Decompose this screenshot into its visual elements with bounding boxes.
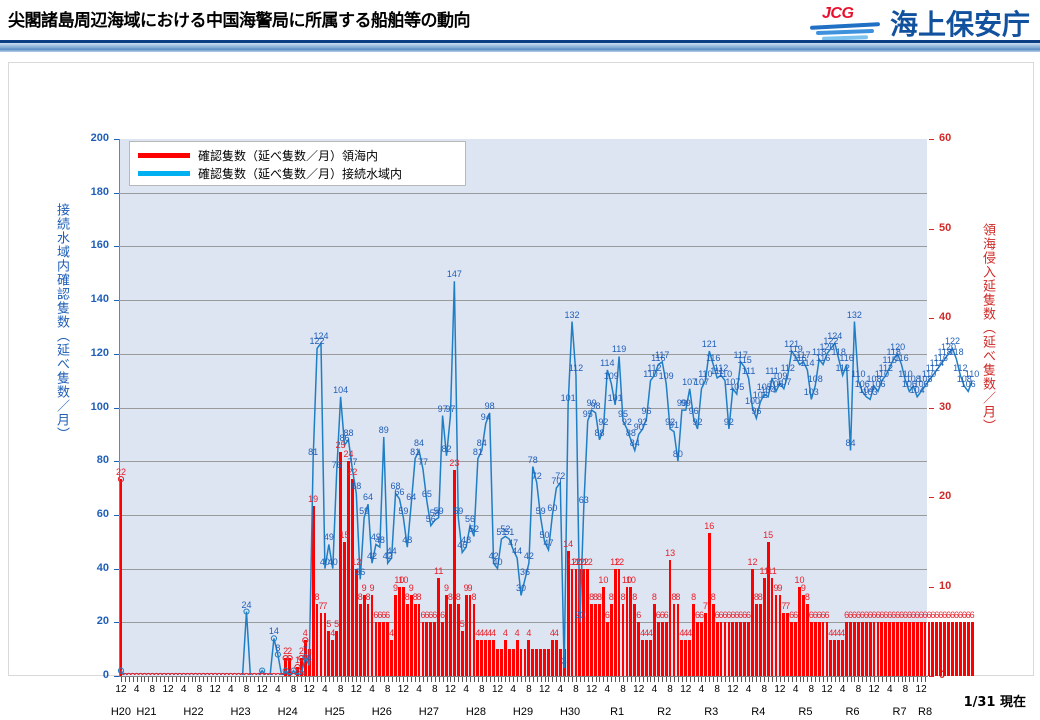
data-label-territorial: 12 <box>747 557 757 567</box>
bar-territorial-sea <box>296 667 299 676</box>
data-label-contiguous: 42 <box>524 551 534 561</box>
data-label-territorial: 6 <box>970 610 975 620</box>
x-tick-mark <box>756 677 757 682</box>
x-axis-month-label: 12 <box>772 684 788 695</box>
bar-territorial-sea <box>375 622 378 676</box>
x-tick-mark <box>501 677 502 682</box>
x-tick-mark <box>878 677 879 682</box>
x-axis-year-label: H26 <box>365 706 399 718</box>
x-axis-month-label: 8 <box>803 684 819 695</box>
x-tick-mark <box>564 677 565 682</box>
data-label-contiguous: 132 <box>565 310 580 320</box>
data-label-territorial: 6 <box>432 610 437 620</box>
bar-territorial-sea <box>959 622 962 676</box>
data-label-contiguous: 59 <box>453 506 463 516</box>
x-tick-mark <box>356 677 357 682</box>
x-tick-mark <box>678 677 679 682</box>
data-label-contiguous: 59 <box>359 506 369 516</box>
data-label-contiguous: 112 <box>781 363 795 373</box>
x-tick-mark <box>305 677 306 682</box>
x-tick-mark <box>556 677 557 682</box>
x-axis-month-label: 4 <box>176 684 192 695</box>
bar-territorial-sea <box>943 622 946 676</box>
bar-territorial-sea <box>735 622 738 676</box>
x-tick-mark <box>694 677 695 682</box>
y-axis-right-tick: 50 <box>939 222 969 234</box>
bar-territorial-sea <box>853 622 856 676</box>
x-tick-mark <box>144 677 145 682</box>
bar-territorial-sea <box>924 622 927 676</box>
bar-territorial-sea <box>433 622 436 676</box>
bar-territorial-sea <box>720 622 723 676</box>
data-label-territorial: 6 <box>793 610 798 620</box>
data-label-territorial: 5 <box>460 619 465 629</box>
data-label-territorial: 6 <box>699 610 704 620</box>
bar-territorial-sea <box>335 631 338 676</box>
x-tick-mark <box>866 677 867 682</box>
x-tick-mark <box>505 677 506 682</box>
bar-territorial-sea <box>822 622 825 676</box>
x-axis-month-label: 12 <box>725 684 741 695</box>
x-tick-mark <box>588 677 589 682</box>
x-axis-month-label: 4 <box>599 684 615 695</box>
data-label-contiguous: 59 <box>536 506 546 516</box>
data-label-contiguous: 80 <box>673 449 683 459</box>
jcg-wave-icon: JCG <box>806 4 884 42</box>
x-tick-mark <box>352 677 353 682</box>
bar-territorial-sea <box>288 658 291 676</box>
bar-territorial-sea <box>680 640 683 676</box>
bar-territorial-sea <box>606 622 609 676</box>
data-label-contiguous: 40 <box>328 557 338 567</box>
x-tick-mark <box>509 677 510 682</box>
bar-territorial-sea <box>708 533 711 676</box>
data-label-contiguous: 115 <box>737 355 751 365</box>
bar-territorial-sea <box>684 640 687 676</box>
x-tick-mark <box>760 677 761 682</box>
x-tick-mark <box>286 677 287 682</box>
x-tick-mark <box>823 677 824 682</box>
y-tick-mark-right <box>929 676 934 677</box>
bar-territorial-sea <box>849 622 852 676</box>
data-label-territorial: 8 <box>758 592 763 602</box>
x-axis-month-label: 4 <box>270 684 286 695</box>
data-label-contiguous: 106 <box>870 379 885 389</box>
x-tick-mark <box>592 677 593 682</box>
data-label-contiguous: 51 <box>504 527 514 537</box>
bar-territorial-sea <box>449 604 452 676</box>
bar-territorial-sea <box>939 622 942 676</box>
bar-territorial-sea <box>665 622 668 676</box>
bar-territorial-sea <box>661 622 664 676</box>
bar-territorial-sea <box>884 622 887 676</box>
data-label-territorial: 9 <box>393 583 398 593</box>
x-tick-mark <box>227 677 228 682</box>
x-tick-mark <box>403 677 404 682</box>
x-axis-month-label: 12 <box>348 684 364 695</box>
bar-territorial-sea <box>316 604 319 676</box>
x-tick-mark <box>121 677 122 682</box>
data-label-territorial: 6 <box>605 610 610 620</box>
x-tick-mark <box>490 677 491 682</box>
data-label-contiguous: 108 <box>808 374 823 384</box>
data-label-territorial: 4 <box>648 628 653 638</box>
bar-territorial-sea <box>300 658 303 676</box>
data-label-contiguous: 52 <box>469 524 479 534</box>
x-tick-mark <box>192 677 193 682</box>
data-label-contiguous: 84 <box>630 438 640 448</box>
bar-territorial-sea <box>465 595 468 676</box>
y-axis-left-tick: 100 <box>75 401 109 413</box>
x-tick-mark <box>148 677 149 682</box>
bar-territorial-sea <box>716 622 719 676</box>
data-label-territorial: 10 <box>398 575 408 585</box>
x-tick-mark <box>368 677 369 682</box>
x-tick-mark <box>282 677 283 682</box>
bar-territorial-sea <box>673 604 676 676</box>
data-label-contiguous: 48 <box>461 535 471 545</box>
data-label-contiguous: 44 <box>387 546 397 556</box>
data-label-territorial: 4 <box>840 628 845 638</box>
x-tick-mark <box>223 677 224 682</box>
bar-territorial-sea <box>531 649 534 676</box>
legend-label-contiguous: 確認隻数（延べ隻数／月）接続水域内 <box>198 165 402 182</box>
bar-territorial-sea <box>892 622 895 676</box>
x-axis-month-label: 8 <box>238 684 254 695</box>
x-tick-mark <box>396 677 397 682</box>
bar-territorial-sea <box>877 622 880 676</box>
x-tick-mark <box>246 677 247 682</box>
x-tick-mark <box>905 677 906 682</box>
data-label-contiguous: 44 <box>512 546 522 556</box>
x-tick-mark <box>317 677 318 682</box>
bar-territorial-sea <box>947 622 950 676</box>
x-tick-mark <box>415 677 416 682</box>
data-label-contiguous: 110 <box>965 369 979 379</box>
x-axis-month-label: 4 <box>411 684 427 695</box>
x-tick-mark <box>517 677 518 682</box>
x-tick-mark <box>862 677 863 682</box>
data-label-contiguous: 118 <box>949 347 963 357</box>
x-tick-mark <box>168 677 169 682</box>
bar-territorial-sea <box>739 622 742 676</box>
bar-territorial-sea <box>410 595 413 676</box>
y-axis-left-tick: 200 <box>75 132 109 144</box>
x-axis-month-label: 8 <box>568 684 584 695</box>
bar-territorial-sea <box>331 640 334 676</box>
x-tick-mark <box>407 677 408 682</box>
x-tick-mark <box>925 677 926 682</box>
data-label-contiguous: 105 <box>729 382 744 392</box>
x-tick-mark <box>470 677 471 682</box>
bar-territorial-sea <box>626 587 629 677</box>
x-axis-month-label: 4 <box>129 684 145 695</box>
data-label-territorial: 8 <box>805 592 810 602</box>
x-axis-year-label: H30 <box>553 706 587 718</box>
x-axis-month-label: 8 <box>897 684 913 695</box>
data-label-territorial: 7 <box>322 601 327 611</box>
bar-territorial-sea <box>837 640 840 676</box>
x-tick-mark <box>858 677 859 682</box>
data-label-territorial: 4 <box>515 628 520 638</box>
x-tick-mark <box>784 677 785 682</box>
bar-territorial-sea <box>371 595 374 676</box>
x-axis-month-label: 12 <box>442 684 458 695</box>
bar-territorial-sea <box>367 604 370 676</box>
x-tick-mark <box>262 677 263 682</box>
bar-territorial-sea <box>775 595 778 676</box>
bar-territorial-sea <box>500 649 503 676</box>
bar-territorial-sea <box>586 569 589 676</box>
x-axis-year-label: R2 <box>647 706 681 718</box>
bar-territorial-sea <box>363 595 366 676</box>
bar-territorial-sea <box>578 569 581 676</box>
x-axis-month-label: 12 <box>113 684 129 695</box>
gridline <box>119 300 927 301</box>
bar-territorial-sea <box>429 622 432 676</box>
data-label-contiguous: 114 <box>600 358 614 368</box>
data-label-territorial: 10 <box>598 575 608 585</box>
x-axis-month-label: 12 <box>631 684 647 695</box>
data-label-territorial: 8 <box>711 592 716 602</box>
bar-territorial-sea <box>614 569 617 676</box>
data-label-territorial: 8 <box>597 592 602 602</box>
x-tick-mark <box>827 677 828 682</box>
x-tick-mark <box>325 677 326 682</box>
x-tick-mark <box>447 677 448 682</box>
bar-territorial-sea <box>814 622 817 676</box>
y-tick-mark-right <box>929 318 934 319</box>
data-label-territorial: 8 <box>632 592 637 602</box>
x-tick-mark <box>713 677 714 682</box>
data-label-territorial: 6 <box>385 610 390 620</box>
x-tick-mark <box>815 677 816 682</box>
x-tick-mark <box>243 677 244 682</box>
bar-territorial-sea <box>473 604 476 676</box>
bar-territorial-sea <box>516 640 519 676</box>
bar-territorial-sea <box>622 604 625 676</box>
x-axis-month-label: 12 <box>584 684 600 695</box>
x-tick-mark <box>768 677 769 682</box>
data-label-contiguous: 24 <box>241 600 251 610</box>
x-tick-mark <box>917 677 918 682</box>
legend-swatch-blue <box>138 171 190 176</box>
data-label-contiguous: 96 <box>751 406 761 416</box>
bar-territorial-sea <box>802 595 805 676</box>
data-label-contiguous: 112 <box>835 363 849 373</box>
data-label-territorial: 4 <box>389 628 394 638</box>
bar-territorial-sea <box>598 604 601 676</box>
x-tick-mark <box>650 677 651 682</box>
x-axis-year-label: H24 <box>271 706 305 718</box>
bar-territorial-sea <box>398 587 401 677</box>
bar-territorial-sea <box>763 578 766 676</box>
bar-territorial-sea <box>833 640 836 676</box>
data-label-territorial: 8 <box>456 592 461 602</box>
data-label-contiguous: 82 <box>441 444 451 454</box>
bar-territorial-sea <box>480 640 483 676</box>
bar-territorial-sea <box>657 622 660 676</box>
y-tick-mark <box>114 515 119 516</box>
x-axis-month-label: 8 <box>756 684 772 695</box>
x-tick-mark <box>741 677 742 682</box>
x-tick-mark <box>482 677 483 682</box>
x-axis-month-label: 8 <box>662 684 678 695</box>
data-label-territorial: 8 <box>405 592 410 602</box>
data-label-contiguous: 122 <box>945 336 960 346</box>
bar-territorial-sea <box>555 640 558 676</box>
x-tick-mark <box>321 677 322 682</box>
x-tick-mark <box>541 677 542 682</box>
x-tick-mark <box>568 677 569 682</box>
bar-territorial-sea <box>422 622 425 676</box>
data-label-contiguous: 92 <box>693 417 703 427</box>
bar-territorial-sea <box>524 649 527 676</box>
data-label-territorial: 23 <box>449 458 459 468</box>
x-tick-mark <box>301 677 302 682</box>
x-axis-year-label: H28 <box>459 706 493 718</box>
y-tick-mark <box>114 354 119 355</box>
data-label-territorial: 12 <box>614 557 624 567</box>
x-tick-mark <box>749 677 750 682</box>
x-tick-mark <box>525 677 526 682</box>
data-label-territorial: 15 <box>763 530 773 540</box>
x-tick-mark <box>219 677 220 682</box>
data-label-contiguous: 119 <box>612 344 626 354</box>
bar-territorial-sea <box>928 622 931 676</box>
bar-territorial-sea <box>378 622 381 676</box>
x-axis-month-label: 8 <box>286 684 302 695</box>
x-tick-mark <box>733 677 734 682</box>
y-axis-left-tick: 160 <box>75 239 109 251</box>
data-label-contiguous: 94 <box>481 412 491 422</box>
x-tick-mark <box>603 677 604 682</box>
y-axis-right-tick: 30 <box>939 401 969 413</box>
bar-territorial-sea <box>120 479 123 676</box>
y-axis-right-tick: 60 <box>939 132 969 144</box>
x-axis-month-label: 4 <box>693 684 709 695</box>
gridline <box>119 515 927 516</box>
bar-territorial-sea <box>900 622 903 676</box>
x-tick-mark <box>894 677 895 682</box>
x-tick-mark <box>752 677 753 682</box>
x-tick-mark <box>137 677 138 682</box>
x-axis-month-label: 8 <box>427 684 443 695</box>
data-label-contiguous: 104 <box>333 385 348 395</box>
x-tick-mark <box>627 677 628 682</box>
x-tick-mark <box>345 677 346 682</box>
data-label-territorial: 4 <box>303 628 308 638</box>
x-axis-year-label: H27 <box>412 706 446 718</box>
bar-territorial-sea <box>312 506 315 676</box>
bar-territorial-sea <box>963 622 966 676</box>
x-tick-mark <box>548 677 549 682</box>
data-label-contiguous: 3 <box>562 656 567 666</box>
data-label-territorial: 8 <box>366 592 371 602</box>
bar-territorial-sea <box>496 649 499 676</box>
x-axis-month-label: 8 <box>709 684 725 695</box>
y-tick-mark <box>114 408 119 409</box>
x-tick-mark <box>647 677 648 682</box>
x-tick-mark <box>882 677 883 682</box>
data-label-territorial: 9 <box>369 583 374 593</box>
data-label-contiguous: 114 <box>800 358 814 368</box>
x-tick-mark <box>635 677 636 682</box>
bar-territorial-sea <box>618 569 621 676</box>
bar-territorial-sea <box>441 622 444 676</box>
x-axis-month-label: 8 <box>521 684 537 695</box>
bar-territorial-sea <box>394 595 397 676</box>
data-label-contiguous: 124 <box>827 331 842 341</box>
bar-territorial-sea <box>967 622 970 676</box>
data-label-territorial: 15 <box>340 530 350 540</box>
bar-territorial-sea <box>951 622 954 676</box>
x-tick-mark <box>411 677 412 682</box>
data-label-territorial: 8 <box>471 592 476 602</box>
x-tick-mark <box>458 677 459 682</box>
x-tick-mark <box>599 677 600 682</box>
x-tick-mark <box>725 677 726 682</box>
bar-territorial-sea <box>916 622 919 676</box>
x-tick-mark <box>164 677 165 682</box>
data-label-territorial: 12 <box>351 557 361 567</box>
x-tick-mark <box>392 677 393 682</box>
x-tick-mark <box>239 677 240 682</box>
legend-item-territorial: 確認隻数（延べ隻数／月）領海内 <box>138 146 378 164</box>
x-tick-mark <box>399 677 400 682</box>
data-label-contiguous: 89 <box>379 425 389 435</box>
bar-territorial-sea <box>512 649 515 676</box>
bar-territorial-sea <box>571 569 574 676</box>
x-tick-mark <box>156 677 157 682</box>
x-axis-month-label: 4 <box>646 684 662 695</box>
bar-territorial-sea <box>908 622 911 676</box>
x-tick-mark <box>533 677 534 682</box>
x-axis-month-label: 4 <box>223 684 239 695</box>
data-label-contiguous: 116 <box>706 353 720 363</box>
x-tick-mark <box>207 677 208 682</box>
bar-territorial-sea <box>488 640 491 676</box>
data-label-territorial: 2 <box>287 646 292 656</box>
x-tick-mark <box>811 677 812 682</box>
x-axis-month-label: 8 <box>850 684 866 695</box>
y-axis-left-tick: 0 <box>75 669 109 681</box>
x-tick-mark <box>552 677 553 682</box>
data-label-territorial: 6 <box>664 610 669 620</box>
bar-territorial-sea <box>857 622 860 676</box>
x-tick-mark <box>835 677 836 682</box>
x-tick-mark <box>333 677 334 682</box>
bar-territorial-sea <box>641 640 644 676</box>
x-tick-mark <box>909 677 910 682</box>
y-tick-mark <box>114 139 119 140</box>
x-tick-mark <box>152 677 153 682</box>
data-label-territorial: 8 <box>675 592 680 602</box>
x-tick-mark <box>776 677 777 682</box>
data-label-contiguous: 110 <box>851 369 865 379</box>
bar-territorial-sea <box>971 622 974 676</box>
x-axis-month-label: 4 <box>741 684 757 695</box>
x-axis-month-label: 12 <box>254 684 270 695</box>
data-label-contiguous: 59 <box>434 506 444 516</box>
bar-territorial-sea <box>904 622 907 676</box>
bar-territorial-sea <box>829 640 832 676</box>
x-tick-mark <box>521 677 522 682</box>
x-tick-mark <box>348 677 349 682</box>
bar-territorial-sea <box>747 622 750 676</box>
x-tick-mark <box>839 677 840 682</box>
data-label-contiguous: 4 <box>307 653 312 663</box>
